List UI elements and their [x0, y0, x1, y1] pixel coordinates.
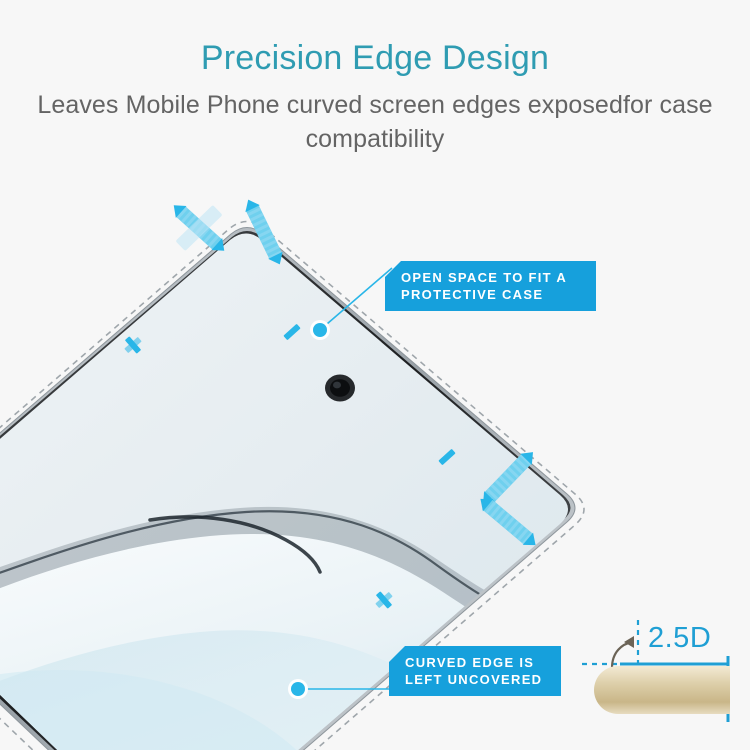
- punch-hole-camera: [325, 375, 355, 402]
- header: Precision Edge Design Leaves Mobile Phon…: [0, 0, 750, 190]
- callout-open-space: OPEN SPACE TO FIT A PROTECTIVE CASE: [385, 261, 596, 311]
- diagram-glass-body: [594, 666, 730, 714]
- page-subtitle: Leaves Mobile Phone curved screen edges …: [0, 80, 750, 156]
- page-title: Precision Edge Design: [0, 0, 750, 80]
- measure-marker-top-left: [168, 199, 229, 256]
- diagram-label: 2.5D: [648, 622, 711, 655]
- anchor-dot-open-space: [313, 323, 327, 337]
- product-infographic: Precision Edge Design Leaves Mobile Phon…: [0, 0, 750, 750]
- anchor-dot-curved-edge: [291, 682, 305, 696]
- callout-curved-edge: CURVED EDGE IS LEFT UNCOVERED: [389, 646, 561, 696]
- diagram-arrowhead: [624, 636, 634, 648]
- edge-profile-diagram: 2.5D: [560, 612, 750, 722]
